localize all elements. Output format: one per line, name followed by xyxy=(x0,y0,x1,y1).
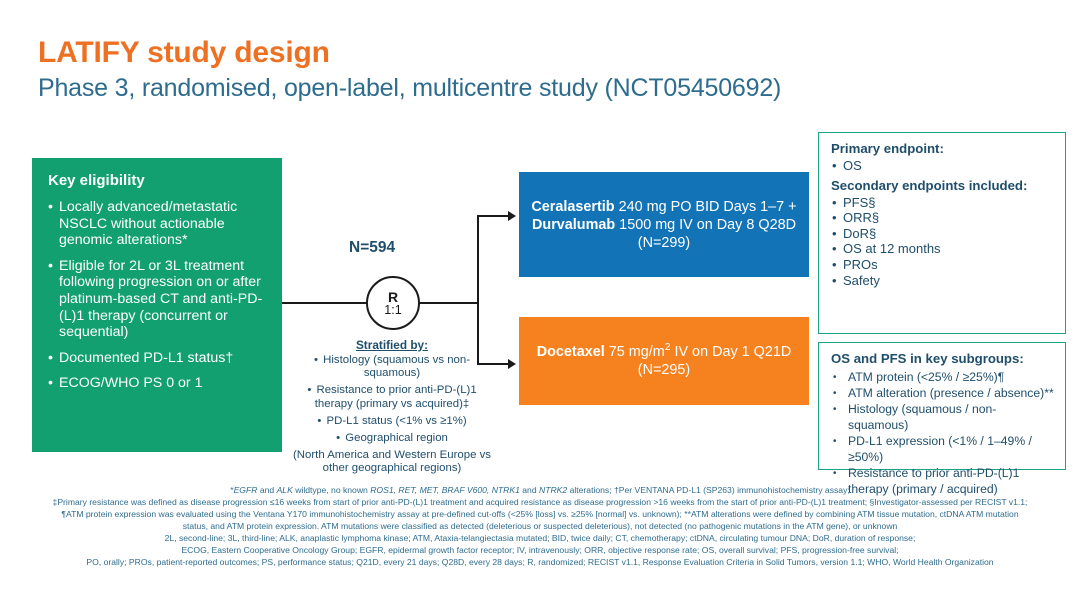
stratification-region-note: (North America and Western Europe vs oth… xyxy=(292,449,492,475)
footnote-line: ‡Primary resistance was defined as disea… xyxy=(8,496,1072,508)
gene-name: NTRK2 xyxy=(539,485,567,495)
subgroups-list: ATM protein (<25% / ≥25%)¶ ATM alteratio… xyxy=(831,369,1055,497)
footnote-line: ECOG, Eastern Cooperative Oncology Group… xyxy=(8,544,1072,556)
list-item: ORR§ xyxy=(831,210,1055,226)
key-eligibility-box: Key eligibility Locally advanced/metasta… xyxy=(32,158,282,452)
randomisation-node: R 1:1 xyxy=(366,276,420,330)
stratification-item-text: Geographical region xyxy=(345,432,448,444)
connector-line-in xyxy=(282,302,367,304)
footnote-line: 2L, second-line; 3L, third-line; ALK, an… xyxy=(8,532,1072,544)
randomisation-ratio: 1:1 xyxy=(384,304,401,317)
list-item: ATM alteration (presence / absence)** xyxy=(831,385,1055,401)
total-enrolment-label: N=594 xyxy=(349,239,395,257)
list-item: Eligible for 2L or 3L treatment followin… xyxy=(48,258,268,341)
footnote-line: PO, orally; PROs, patient-reported outco… xyxy=(8,556,1072,568)
list-item: • PD-L1 status (<1% vs ≥1%) xyxy=(292,415,492,428)
footnote-text: alterations; †Per VENTANA PD-L1 (SP263) … xyxy=(567,485,850,495)
list-item: • Histology (squamous vs non-squamous) xyxy=(292,354,492,380)
arm-experimental-text: Ceralasertib 240 mg PO BID Days 1–7 + Du… xyxy=(531,198,796,252)
footnote-text: and xyxy=(520,485,539,495)
arm-experimental-drug1: Ceralasertib xyxy=(531,199,614,215)
footnote-line: *EGFR and ALK wildtype, no known ROS1, R… xyxy=(8,484,1072,496)
list-item: OS at 12 months xyxy=(831,241,1055,257)
arrowhead-icon xyxy=(508,359,516,369)
list-item: Locally advanced/metastatic NSCLC withou… xyxy=(48,199,268,249)
page-subtitle: Phase 3, randomised, open-label, multice… xyxy=(38,74,781,103)
treatment-arm-control: Docetaxel 75 mg/m2 IV on Day 1 Q21D (N=2… xyxy=(519,317,809,405)
gene-name: EGFR xyxy=(234,485,258,495)
eligibility-heading: Key eligibility xyxy=(48,172,268,189)
gene-name: ROS1, RET, MET, BRAF V600, NTRK1 xyxy=(370,485,520,495)
list-item: OS xyxy=(831,158,1055,174)
list-item: PROs xyxy=(831,257,1055,273)
secondary-endpoint-list: PFS§ ORR§ DoR§ OS at 12 months PROs Safe… xyxy=(831,195,1055,289)
stratification-item-text: Histology (squamous vs non-squamous) xyxy=(323,354,470,379)
list-item: DoR§ xyxy=(831,226,1055,242)
subgroups-heading: OS and PFS in key subgroups: xyxy=(831,351,1055,366)
secondary-endpoint-heading: Secondary endpoints included: xyxy=(831,178,1055,193)
arm-experimental-n: (N=299) xyxy=(638,235,690,251)
connector-line-out xyxy=(419,302,479,304)
footnote-line: status, and ATM protein expression. ATM … xyxy=(8,520,1072,532)
endpoints-panel: Primary endpoint: OS Secondary endpoints… xyxy=(818,132,1066,334)
list-item: • Geographical region xyxy=(292,432,492,445)
list-item: Safety xyxy=(831,273,1055,289)
list-item: Documented PD-L1 status† xyxy=(48,350,268,367)
primary-endpoint-heading: Primary endpoint: xyxy=(831,141,1055,156)
subgroups-panel: OS and PFS in key subgroups: ATM protein… xyxy=(818,342,1066,470)
randomisation-letter: R xyxy=(388,290,398,304)
arm-control-drug: Docetaxel xyxy=(537,344,605,360)
page-title: LATIFY study design xyxy=(38,36,330,70)
stratification-heading: Stratified by: xyxy=(292,338,492,352)
arm-experimental-dose2: 1500 mg IV on Day 8 Q28D xyxy=(615,217,796,233)
gene-name: ALK xyxy=(277,485,293,495)
footnotes-block: *EGFR and ALK wildtype, no known ROS1, R… xyxy=(8,484,1072,568)
list-item: Histology (squamous / non-squamous) xyxy=(831,401,1055,433)
stratification-item-text: Resistance to prior anti-PD-(L)1 therapy… xyxy=(315,384,477,409)
stratification-item-text: PD-L1 status (<1% vs ≥1%) xyxy=(327,415,467,427)
arrowhead-icon xyxy=(508,211,516,221)
list-item: ATM protein (<25% / ≥25%)¶ xyxy=(831,369,1055,385)
primary-endpoint-list: OS xyxy=(831,158,1055,174)
eligibility-list: Locally advanced/metastatic NSCLC withou… xyxy=(48,199,268,392)
stratification-list: • Histology (squamous vs non-squamous) •… xyxy=(292,354,492,445)
arm-control-dose-pre: 75 mg/m xyxy=(605,344,665,360)
footnote-text: and xyxy=(257,485,276,495)
slide-canvas: LATIFY study design Phase 3, randomised,… xyxy=(0,0,1080,605)
stratification-block: Stratified by: • Histology (squamous vs … xyxy=(292,338,492,476)
list-item: PFS§ xyxy=(831,195,1055,211)
arm-control-n: (N=295) xyxy=(638,362,690,378)
list-item: • Resistance to prior anti-PD-(L)1 thera… xyxy=(292,384,492,410)
arm-control-dose-post: IV on Day 1 Q21D xyxy=(670,344,791,360)
arm-experimental-drug2: Durvalumab xyxy=(532,217,615,233)
treatment-arm-experimental: Ceralasertib 240 mg PO BID Days 1–7 + Du… xyxy=(519,172,809,277)
list-item: PD-L1 expression (<1% / 1–49% / ≥50%) xyxy=(831,433,1055,465)
list-item: ECOG/WHO PS 0 or 1 xyxy=(48,375,268,392)
footnote-line: ¶ATM protein expression was evaluated us… xyxy=(8,508,1072,520)
arm-control-text: Docetaxel 75 mg/m2 IV on Day 1 Q21D (N=2… xyxy=(537,343,792,379)
arm-experimental-dose1: 240 mg PO BID Days 1–7 + xyxy=(615,199,797,215)
footnote-text: wildtype, no known xyxy=(293,485,370,495)
